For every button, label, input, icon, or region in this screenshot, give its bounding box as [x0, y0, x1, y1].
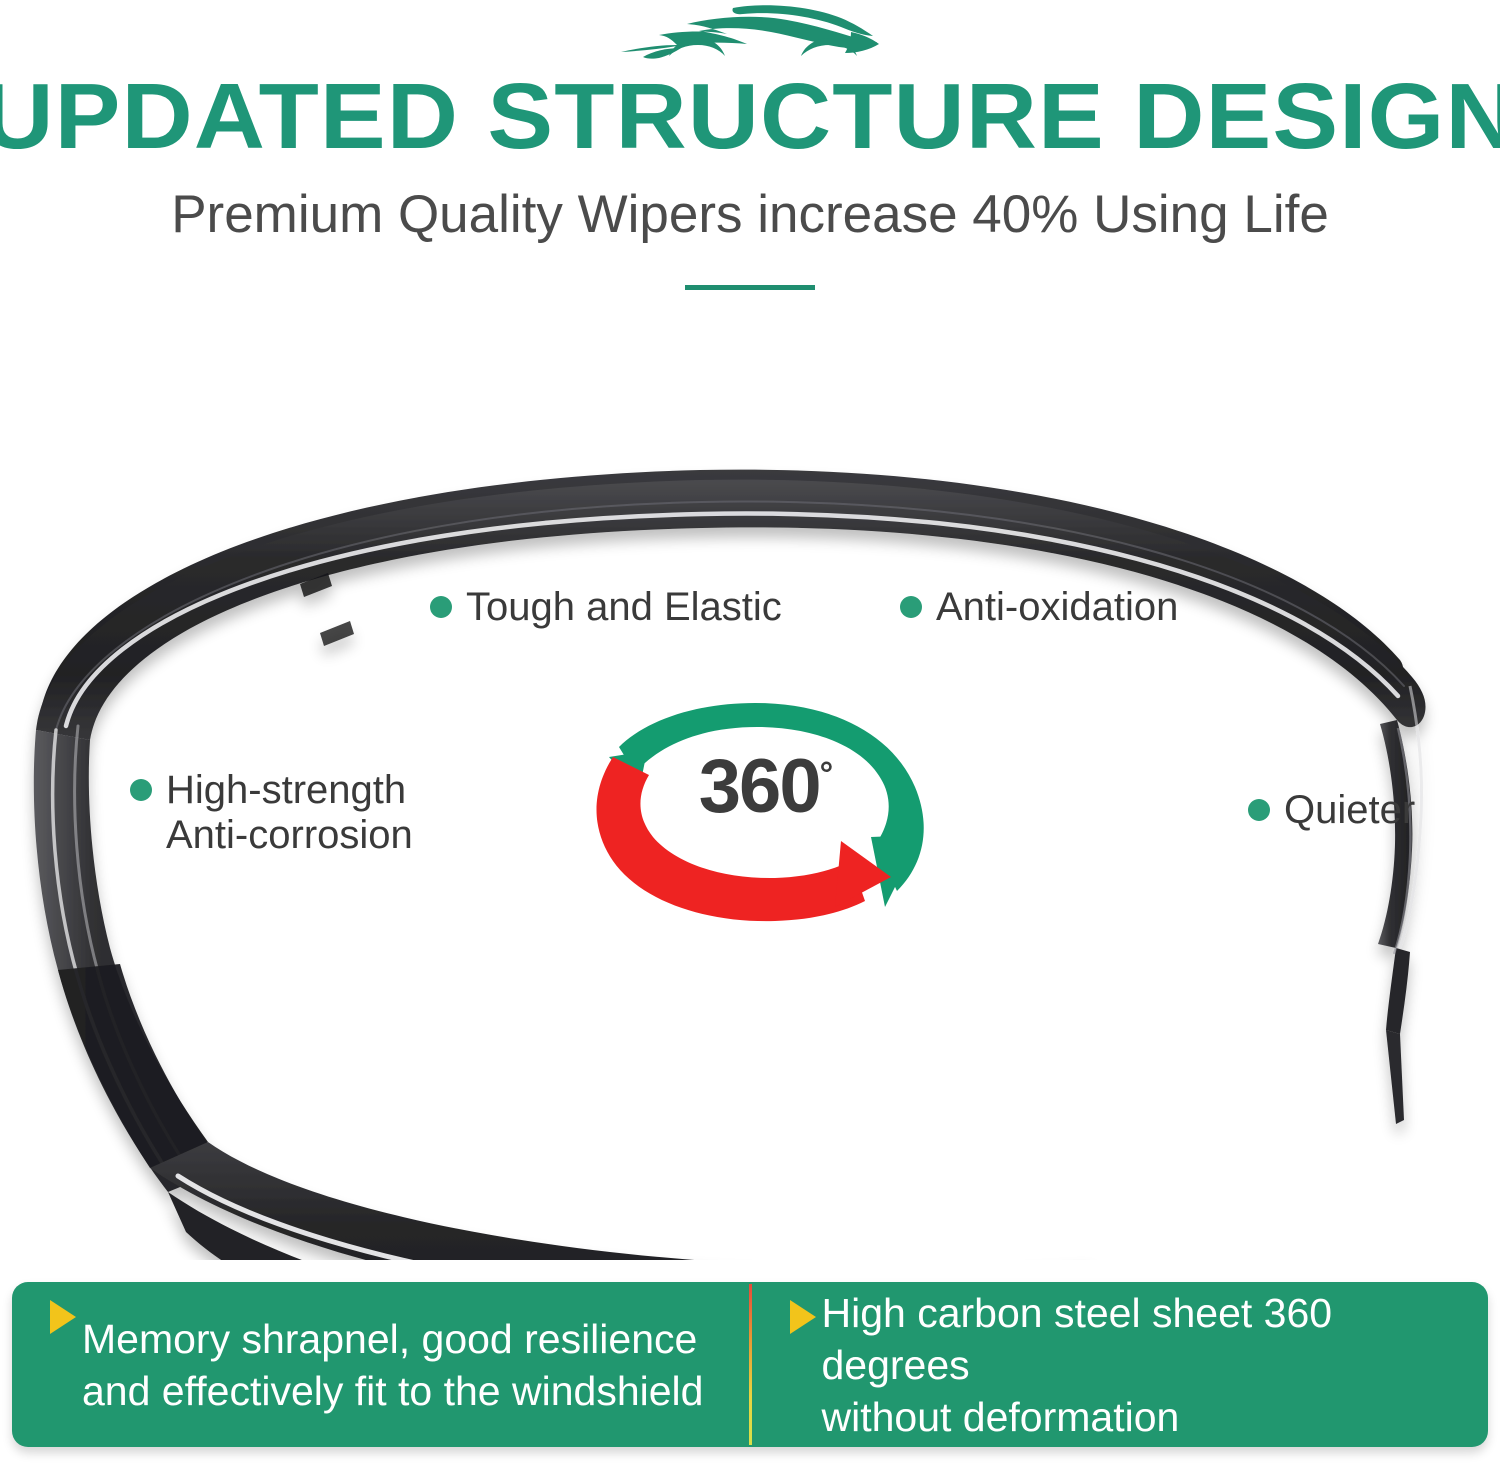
feature-label: Quieter [1284, 788, 1415, 833]
360-label: 360° [575, 747, 955, 827]
feature-tough-and-elastic: Tough and Elastic [430, 585, 782, 630]
car-silhouette-icon [615, 4, 885, 62]
product-feature-infographic: UPDATED STRUCTURE DESIGN Premium Quality… [0, 0, 1500, 1475]
banner-item-left: Memory shrapnel, good resilience and eff… [12, 1282, 749, 1447]
triangle-bullet-icon [50, 1300, 76, 1334]
feature-label: Anti-oxidation [936, 585, 1178, 630]
brand-logo [0, 2, 1500, 64]
feature-anti-oxidation: Anti-oxidation [900, 585, 1178, 630]
banner-item-right: High carbon steel sheet 360 degrees with… [752, 1282, 1489, 1447]
bullet-dot-icon [1248, 799, 1270, 821]
feature-quieter: Quieter [1248, 788, 1415, 833]
page-subtitle: Premium Quality Wipers increase 40% Usin… [0, 183, 1500, 247]
title-divider-rule [685, 285, 815, 290]
bullet-dot-icon [900, 596, 922, 618]
bullet-dot-icon [430, 596, 452, 618]
banner-text: High carbon steel sheet 360 degrees with… [822, 1287, 1463, 1443]
banner-text: Memory shrapnel, good resilience and eff… [82, 1313, 703, 1417]
bullet-dot-icon [130, 779, 152, 801]
triangle-bullet-icon [790, 1300, 816, 1334]
feature-label: High-strength Anti-corrosion [166, 768, 413, 858]
feature-high-strength-anti-corrosion: High-strength Anti-corrosion [130, 768, 413, 858]
bottom-feature-banner: Memory shrapnel, good resilience and eff… [12, 1282, 1488, 1447]
page-title: UPDATED STRUCTURE DESIGN [0, 68, 1500, 164]
360-degree-badge: 360° [575, 695, 955, 935]
feature-label: Tough and Elastic [466, 585, 782, 630]
